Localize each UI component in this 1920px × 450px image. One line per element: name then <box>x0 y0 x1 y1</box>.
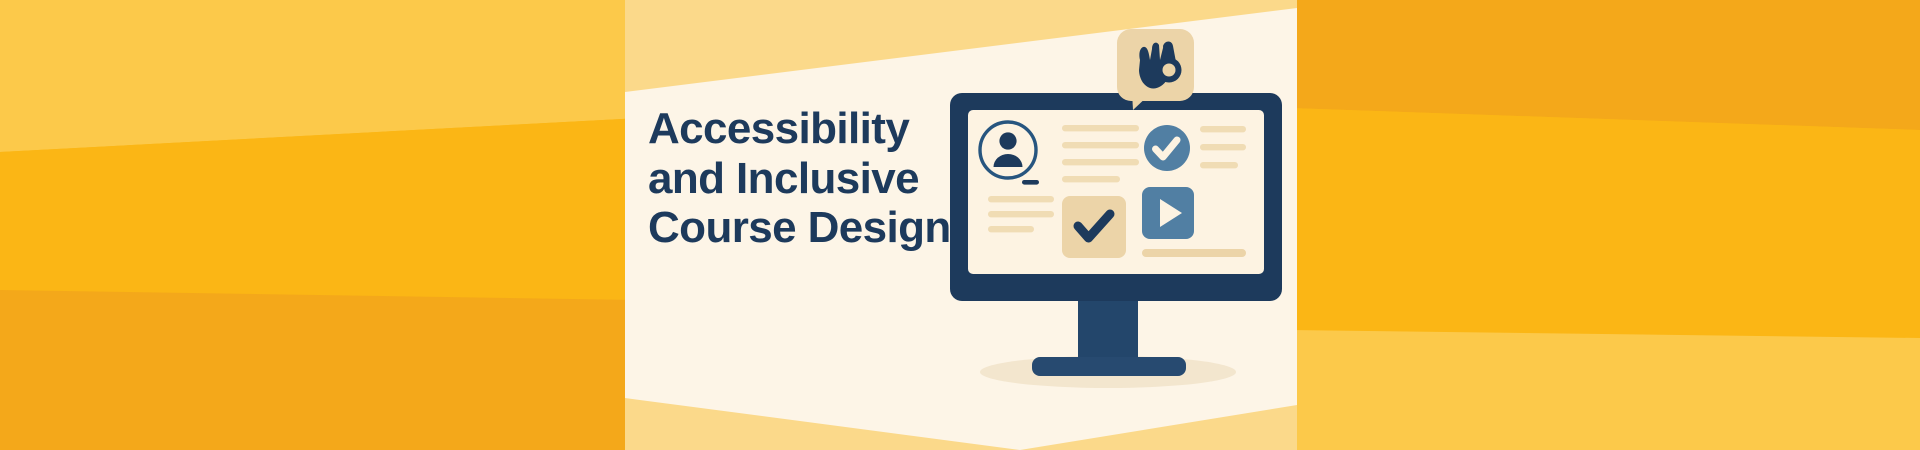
monitor-stand-neck <box>1078 296 1138 362</box>
check-circle-badge <box>1144 125 1190 171</box>
title-line-1: Accessibility <box>648 104 978 154</box>
checkbox-tile <box>1062 196 1126 258</box>
title-line-3: Course Design <box>648 203 978 253</box>
text-line-bottom <box>1142 249 1246 257</box>
avatar-caption-dash <box>1022 180 1039 185</box>
monitor-stand-base <box>1032 357 1186 376</box>
banner-root: Accessibility and Inclusive Course Desig… <box>0 0 1920 450</box>
page-title: Accessibility and Inclusive Course Desig… <box>648 104 978 253</box>
video-play-tile <box>1142 187 1194 239</box>
title-line-2: and Inclusive <box>648 154 978 204</box>
ok-hand-speech-bubble <box>1117 29 1194 110</box>
